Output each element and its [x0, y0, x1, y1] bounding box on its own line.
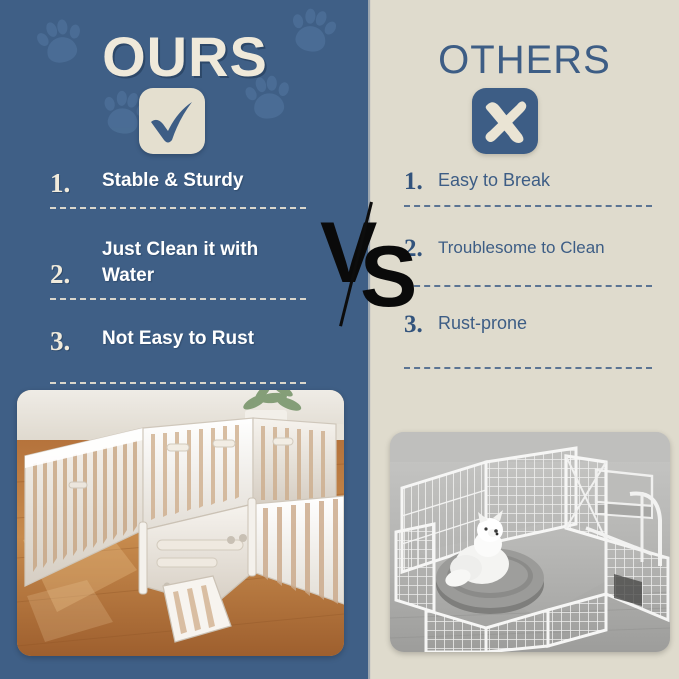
- list-item-label: Stable & Sturdy: [98, 168, 308, 194]
- list-item: 2. Troublesome to Clean: [404, 235, 654, 263]
- list-item-label: Not Easy to Rust: [98, 326, 308, 352]
- dashed-separator: [50, 382, 306, 384]
- dashed-separator: [50, 298, 306, 300]
- list-item-number: 3.: [50, 326, 98, 356]
- dashed-separator: [50, 207, 306, 209]
- others-title: OTHERS: [370, 38, 679, 83]
- list-item-label: Troublesome to Clean: [436, 235, 654, 260]
- others-product-photo: [390, 432, 670, 652]
- list-item: 2. Just Clean it with Water: [50, 237, 308, 289]
- spacer: [50, 300, 308, 326]
- spacer: [50, 209, 308, 237]
- check-mark-icon: [139, 88, 205, 154]
- dashed-separator: [404, 285, 652, 287]
- paw-toe: [117, 91, 128, 106]
- spacer: [404, 207, 654, 235]
- list-item-number: 3.: [404, 311, 436, 339]
- list-item-label: Rust-prone: [436, 311, 654, 336]
- comparison-infographic: OURS OTHERS 1. Stable & Sturdy 2. Just C…: [0, 0, 679, 679]
- list-item-number: 1.: [50, 168, 98, 198]
- list-item: 1. Stable & Sturdy: [50, 168, 308, 198]
- list-item-number: 2.: [404, 235, 436, 263]
- list-item: 3. Not Easy to Rust: [50, 326, 308, 356]
- spacer: [404, 287, 654, 311]
- list-item: 1. Easy to Break: [404, 168, 654, 196]
- list-item-number: 2.: [50, 237, 98, 289]
- list-item: 3. Rust-prone: [404, 311, 654, 339]
- paw-toe: [305, 8, 316, 24]
- others-feature-list: 1. Easy to Break 2. Troublesome to Clean…: [404, 168, 654, 369]
- list-item-number: 1.: [404, 168, 436, 196]
- list-item-label: Just Clean it with Water: [98, 237, 308, 289]
- ours-product-photo: [17, 390, 344, 656]
- ours-title: OURS: [0, 24, 370, 89]
- list-item-label: Easy to Break: [436, 168, 654, 193]
- ours-feature-list: 1. Stable & Sturdy 2. Just Clean it with…: [50, 168, 308, 384]
- cross-mark-icon: [472, 88, 538, 154]
- dashed-separator: [404, 367, 652, 369]
- dashed-separator: [404, 205, 652, 207]
- panel-divider: [368, 0, 371, 679]
